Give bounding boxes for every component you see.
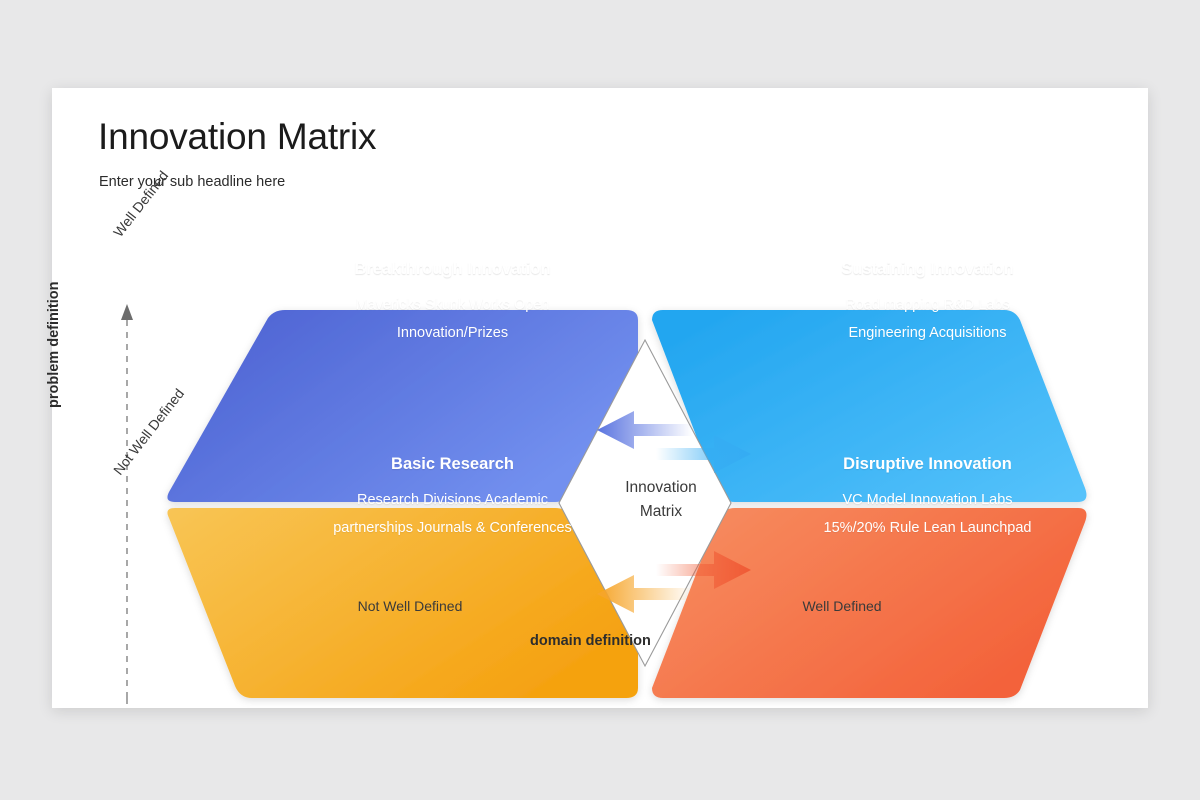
center-label-line-1: Innovation	[586, 476, 736, 500]
matrix-svg	[52, 198, 1148, 708]
quadrant-shape-breakthrough[interactable]	[167, 310, 638, 502]
innovation-matrix-diagram: Breakthrough Innovation Mavericks Skunk …	[52, 198, 1148, 708]
axis-x-title: domain definition	[530, 633, 651, 649]
page-title: Innovation Matrix	[98, 116, 376, 158]
axis-x	[127, 698, 1088, 708]
page-subtitle: Enter your sub headline here	[99, 174, 285, 190]
axis-x-label-right: Well Defined	[742, 598, 942, 614]
slide-card: Innovation Matrix Enter your sub headlin…	[52, 88, 1148, 708]
axis-y-title: problem definition	[46, 282, 62, 408]
center-label: Innovation Matrix	[586, 476, 736, 524]
center-label-line-2: Matrix	[586, 500, 736, 524]
axis-y-arrowhead	[121, 304, 133, 320]
quadrant-shape-sustaining[interactable]	[652, 310, 1086, 502]
axis-x-label-left: Not Well Defined	[310, 598, 510, 614]
